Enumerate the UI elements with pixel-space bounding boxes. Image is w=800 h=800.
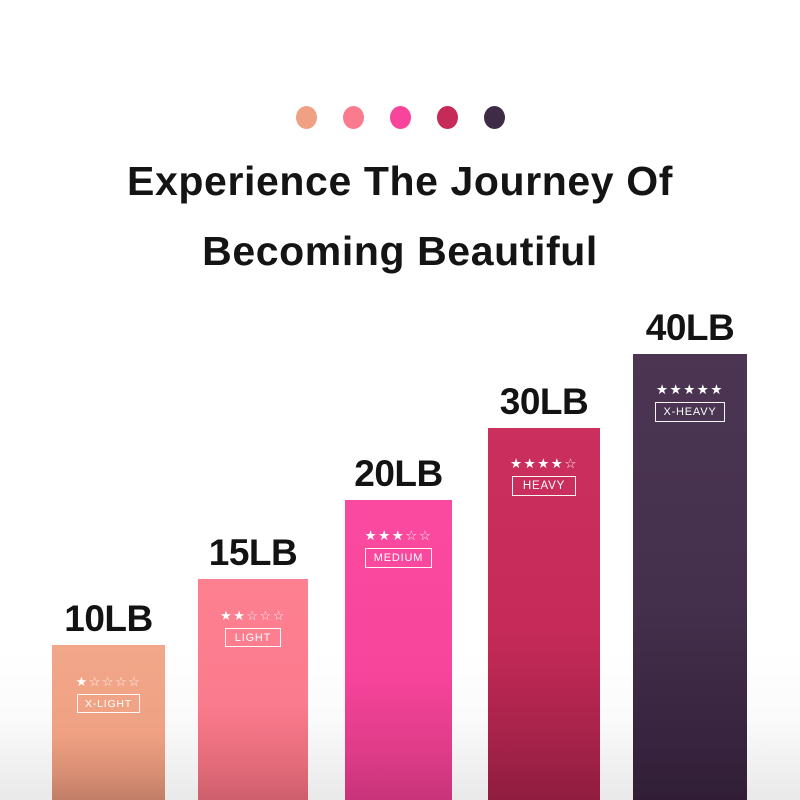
star-filled-icon: ★	[524, 457, 538, 471]
bar-10lb[interactable]	[52, 645, 165, 800]
dot-heavy-icon	[437, 106, 458, 129]
bar-weight-label-15lb: 15LB	[198, 533, 308, 573]
star-rating-medium: ★★★☆☆	[364, 529, 432, 543]
star-filled-icon: ★	[683, 383, 697, 397]
star-empty-icon: ☆	[564, 457, 578, 471]
star-empty-icon: ☆	[246, 609, 259, 622]
star-empty-icon: ☆	[419, 529, 433, 543]
headline-line-1: Experience The Journey Of	[0, 146, 800, 216]
bar-group-10lb[interactable]: 10LB★☆☆☆☆X-LIGHT	[52, 645, 165, 800]
star-rating-heavy: ★★★★☆	[510, 457, 578, 471]
star-empty-icon: ☆	[405, 529, 419, 543]
star-filled-icon: ★	[378, 529, 392, 543]
star-empty-icon: ☆	[260, 609, 273, 622]
star-empty-icon: ☆	[273, 609, 286, 622]
bar-weight-label-40lb: 40LB	[633, 308, 747, 348]
star-empty-icon: ☆	[128, 675, 141, 688]
star-filled-icon: ★	[510, 457, 524, 471]
band-plate-heavy: ★★★★☆HEAVY	[488, 457, 600, 497]
star-empty-icon: ☆	[89, 675, 102, 688]
band-strength-label-light: LIGHT	[225, 628, 281, 647]
bar-group-20lb[interactable]: 20LB★★★☆☆MEDIUM	[345, 500, 452, 800]
dot-x-heavy-icon	[484, 106, 505, 129]
dot-light-icon	[343, 106, 364, 129]
star-filled-icon: ★	[670, 383, 684, 397]
band-plate-x-light: ★☆☆☆☆X-LIGHT	[52, 675, 165, 713]
dot-x-light-icon	[296, 106, 317, 129]
page-title: Experience The Journey Of Becoming Beaut…	[0, 146, 800, 286]
star-filled-icon: ★	[220, 609, 233, 622]
star-filled-icon: ★	[656, 383, 670, 397]
star-filled-icon: ★	[76, 675, 89, 688]
star-rating-light: ★★☆☆☆	[220, 609, 286, 622]
star-empty-icon: ☆	[115, 675, 128, 688]
band-plate-light: ★★☆☆☆LIGHT	[198, 609, 308, 647]
star-filled-icon: ★	[233, 609, 246, 622]
star-filled-icon: ★	[697, 383, 711, 397]
bar-weight-label-30lb: 30LB	[488, 382, 600, 422]
band-strength-label-x-light: X-LIGHT	[77, 694, 140, 713]
band-plate-medium: ★★★☆☆MEDIUM	[345, 529, 452, 569]
bar-group-15lb[interactable]: 15LB★★☆☆☆LIGHT	[198, 579, 308, 800]
star-empty-icon: ☆	[102, 675, 115, 688]
band-plate-x-heavy: ★★★★★X-HEAVY	[633, 383, 747, 423]
bar-weight-label-20lb: 20LB	[345, 454, 452, 494]
star-filled-icon: ★	[364, 529, 378, 543]
star-rating-x-heavy: ★★★★★	[656, 383, 724, 397]
bar-group-30lb[interactable]: 30LB★★★★☆HEAVY	[488, 428, 600, 800]
bar-group-40lb[interactable]: 40LB★★★★★X-HEAVY	[633, 354, 747, 800]
band-strength-label-heavy: HEAVY	[512, 476, 576, 496]
star-filled-icon: ★	[537, 457, 551, 471]
headline-line-2: Becoming Beautiful	[0, 216, 800, 286]
star-rating-x-light: ★☆☆☆☆	[76, 675, 142, 688]
star-filled-icon: ★	[551, 457, 565, 471]
star-filled-icon: ★	[710, 383, 724, 397]
infographic-canvas: Experience The Journey Of Becoming Beaut…	[0, 0, 800, 800]
color-swatch-row	[0, 106, 800, 129]
band-strength-label-medium: MEDIUM	[365, 548, 432, 568]
band-strength-label-x-heavy: X-HEAVY	[655, 402, 724, 422]
bar-weight-label-10lb: 10LB	[52, 599, 165, 639]
dot-medium-icon	[390, 106, 411, 129]
star-filled-icon: ★	[392, 529, 406, 543]
